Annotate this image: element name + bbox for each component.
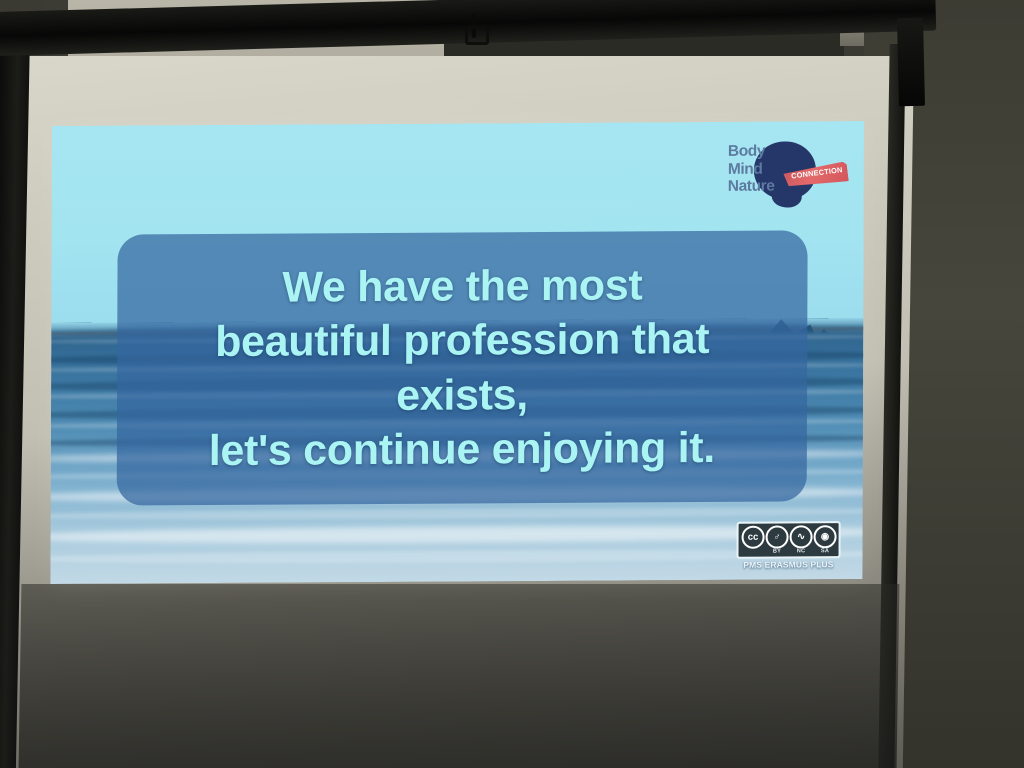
license-caption: PMS ERASMUS PLUS [736,559,840,570]
room-background: Body Mind Nature CONNECTION We have the … [0,0,1024,768]
cc-cell-by: ♂ BY [766,525,789,555]
attribution-person-icon: ♂ [766,525,789,548]
cc-cell-nc: ∿ NC [790,525,813,555]
cc-by-label: BY [766,548,789,555]
quote-panel: We have the most beautiful profession th… [117,230,808,505]
logo-line-body: Body [728,142,804,160]
sharealike-icon: ◉ [814,525,837,548]
cc-sa-label: SA [814,548,837,555]
noncommercial-icon: ∿ [790,525,813,548]
cc-cell-mark: cc - [742,526,765,556]
logo-wordmark: Body Mind Nature [728,142,804,195]
cc-nc-label: NC [790,548,813,555]
screen-roller-end-cap [897,18,925,107]
ceiling-hook-icon [464,14,486,40]
cc-icon-row: cc - ♂ BY ∿ NC ◉ SA [737,521,841,559]
cc-cell-sa: ◉ SA [814,525,837,555]
quote-text: We have the most beautiful profession th… [199,258,726,478]
projected-slide: Body Mind Nature CONNECTION We have the … [50,121,864,584]
body-mind-nature-logo: Body Mind Nature CONNECTION [726,139,848,214]
creative-commons-badge: cc - ♂ BY ∿ NC ◉ SA PMS ERASMUS PLUS [736,521,840,570]
creative-commons-icon: cc [742,526,765,549]
